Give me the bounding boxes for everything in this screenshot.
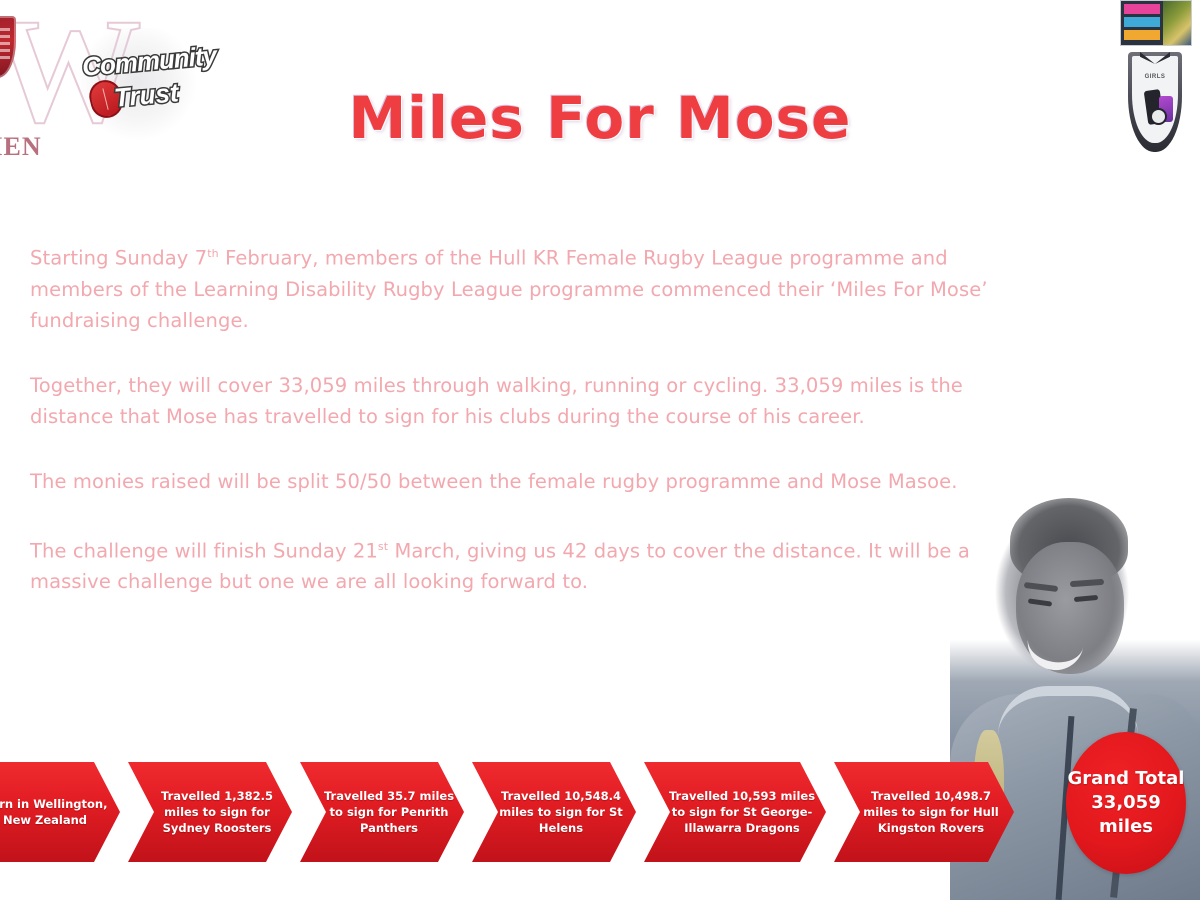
- crest-text: GIRLS: [1132, 74, 1178, 80]
- body-copy: Starting Sunday 7th February, members of…: [30, 238, 1005, 597]
- grand-total-text: Grand Total 33,059 miles: [1066, 767, 1186, 839]
- journey-step-label: Travelled 1,382.5 miles to sign for Sydn…: [128, 788, 292, 836]
- ordinal-suffix: st: [378, 540, 388, 553]
- journey-step-label: Travelled 10,498.7 miles to sign for Hul…: [834, 788, 1014, 836]
- grand-total-badge: Grand Total 33,059 miles: [1066, 732, 1186, 874]
- body-paragraph: The monies raised will be split 50/50 be…: [30, 466, 1005, 497]
- badge-stripe-1: [1124, 4, 1160, 14]
- badge-stripes: [1121, 1, 1163, 45]
- body-paragraph: Starting Sunday 7th February, members of…: [30, 238, 1005, 336]
- journey-timeline: Born in Wellington, New ZealandTravelled…: [0, 762, 1040, 862]
- journey-step-label: Travelled 10,593 miles to sign for St Ge…: [644, 788, 826, 836]
- badge-stripe-3: [1124, 30, 1160, 40]
- journey-step-label: Travelled 10,548.4 miles to sign for St …: [472, 788, 636, 836]
- journey-step: Travelled 35.7 miles to sign for Penrith…: [300, 762, 464, 862]
- body-paragraph: Together, they will cover 33,059 miles t…: [30, 370, 1005, 432]
- badge-photo: [1163, 1, 1191, 45]
- page-title: Miles For Mose: [0, 84, 1200, 152]
- journey-step: Travelled 10,498.7 miles to sign for Hul…: [834, 762, 1014, 862]
- ordinal-suffix: th: [207, 247, 219, 260]
- journey-step: Travelled 10,548.4 miles to sign for St …: [472, 762, 636, 862]
- journey-step-label: Born in Wellington, New Zealand: [0, 796, 120, 828]
- body-paragraph: The challenge will finish Sunday 21st Ma…: [30, 531, 1005, 598]
- partner-badge-logo: [1120, 0, 1192, 46]
- badge-stripe-2: [1124, 17, 1160, 27]
- journey-step: Travelled 10,593 miles to sign for St Ge…: [644, 762, 826, 862]
- journey-step-label: Travelled 35.7 miles to sign for Penrith…: [300, 788, 464, 836]
- journey-step: Born in Wellington, New Zealand: [0, 762, 120, 862]
- journey-step: Travelled 1,382.5 miles to sign for Sydn…: [128, 762, 292, 862]
